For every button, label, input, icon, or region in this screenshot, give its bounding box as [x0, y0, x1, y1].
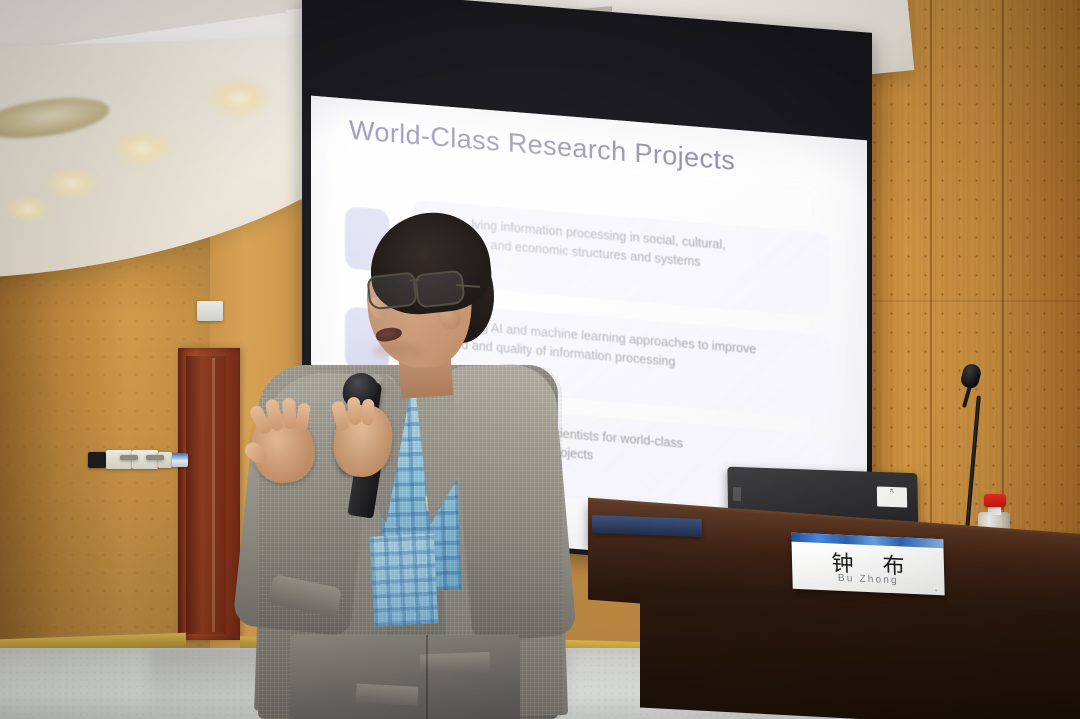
eyeglasses-left-lens: [366, 272, 417, 311]
water-bottle-cap[interactable]: [984, 494, 1006, 507]
wall-panel-display[interactable]: [88, 452, 106, 468]
switch-rocker[interactable]: [146, 455, 164, 460]
chin-shadow: [372, 343, 424, 363]
wall-seam: [866, 300, 1080, 302]
jacket-pocket-flap: [420, 652, 491, 675]
door-gap: [212, 358, 215, 632]
eyeglasses-right-lens: [414, 270, 465, 309]
downlight: [46, 168, 98, 198]
downlight: [112, 130, 172, 166]
auditorium-photo: World-Class Research Projects ...lving i…: [0, 0, 1080, 719]
name-placard: 钟 布 Bu Zhong ▼: [791, 533, 944, 596]
downlight: [206, 78, 272, 118]
jacket-hem: [290, 635, 520, 719]
door-panel: [186, 356, 226, 634]
downlight: [6, 196, 50, 222]
jacket-vent-seam: [426, 635, 428, 719]
laptop-brand-logo: [733, 487, 741, 501]
wall-data-port[interactable]: [172, 453, 188, 467]
folder-on-podium[interactable]: [592, 515, 703, 537]
podium-body: [640, 588, 1080, 719]
exit-sign: [197, 301, 223, 321]
placard-watermark-icon: ▼: [934, 588, 939, 593]
jacket-pocket-flap: [356, 683, 419, 705]
presenter: [230, 205, 580, 719]
laptop-sticker: 九: [877, 486, 907, 507]
switch-rocker[interactable]: [120, 455, 138, 460]
finger: [362, 399, 375, 425]
